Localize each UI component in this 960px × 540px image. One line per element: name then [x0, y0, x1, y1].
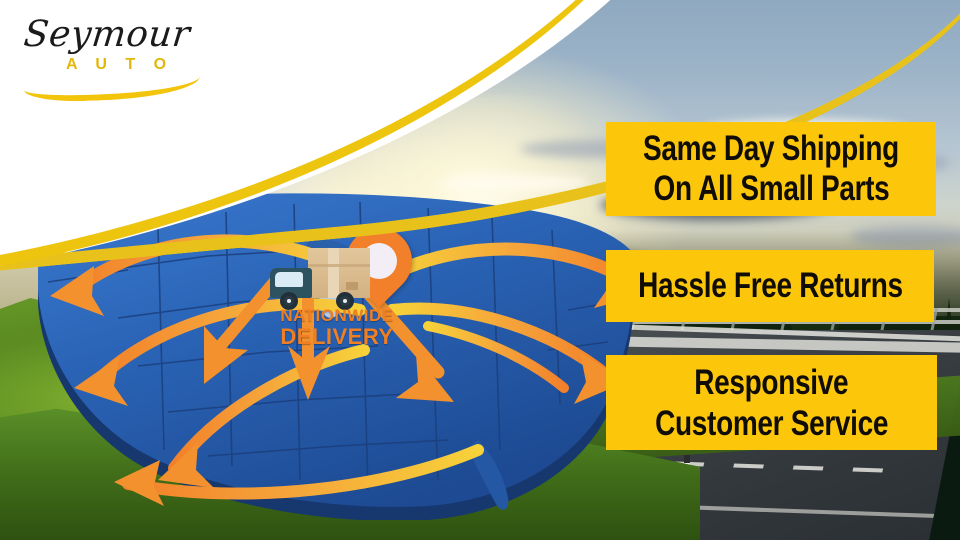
banner-line-1: Responsive: [695, 362, 849, 403]
logo-auto-text: A U T O: [66, 56, 173, 74]
delivery-text: DELIVERY: [262, 325, 412, 349]
nationwide-delivery-label: NATIONWIDE DELIVERY: [262, 306, 412, 349]
box-label: [346, 282, 358, 290]
nationwide-text: NATIONWIDE: [262, 306, 412, 325]
box-seam: [308, 264, 370, 267]
banner-hassle-free-returns[interactable]: Hassle Free Returns: [606, 250, 934, 322]
delivery-truck-icon: [270, 246, 380, 310]
nationwide-delivery-hub: NATIONWIDE DELIVERY: [262, 228, 422, 378]
promotional-banner: NATIONWIDE DELIVERY Seymour A U T O Same…: [0, 0, 960, 540]
lane-dash: [793, 465, 824, 470]
lane-dash: [852, 467, 883, 472]
truck-window: [275, 272, 303, 287]
box-tape: [328, 248, 339, 298]
lane-dash: [733, 463, 764, 468]
banner-line-1: Same Day Shipping: [643, 129, 899, 169]
seymour-auto-logo[interactable]: Seymour A U T O: [18, 14, 208, 96]
banner-responsive-customer-service[interactable]: Responsive Customer Service: [606, 355, 937, 450]
banner-line-1: Hassle Free Returns: [638, 266, 903, 306]
logo-brand-name: Seymour: [22, 14, 192, 55]
banner-line-2: Customer Service: [655, 403, 888, 444]
banner-same-day-shipping[interactable]: Same Day Shipping On All Small Parts: [606, 122, 936, 216]
cardboard-box-icon: [308, 248, 370, 298]
banner-line-2: On All Small Parts: [653, 169, 889, 209]
